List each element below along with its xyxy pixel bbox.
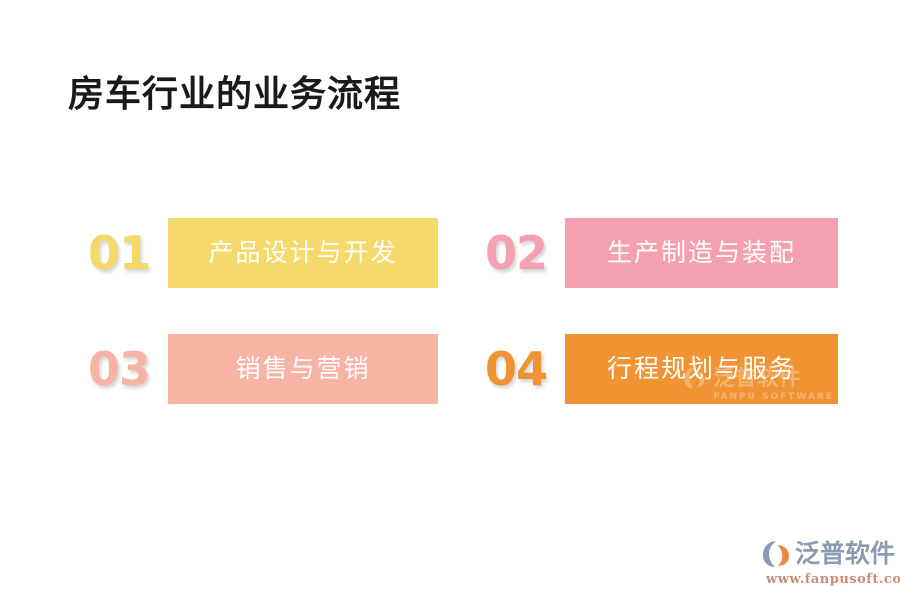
flow-step-number: 04 <box>485 334 565 404</box>
watermark-name-en: FANPU SOFTWARE <box>713 393 834 402</box>
flow-diagram: 01 产品设计与开发 02 生产制造与装配 03 销售与营销 04 行程规划与服… <box>0 0 900 600</box>
flow-step-03[interactable]: 03 销售与营销 <box>88 334 438 404</box>
flow-step-number: 03 <box>88 334 168 404</box>
flow-step-label: 销售与营销 <box>235 357 370 382</box>
brand-url: www.fanpusoft.com <box>766 573 900 586</box>
flow-step-04[interactable]: 04 行程规划与服务 泛普软件 FANPU SOFTWARE <box>485 334 838 404</box>
fanpu-logo-icon <box>762 540 792 568</box>
flow-step-bar[interactable]: 产品设计与开发 <box>168 218 438 288</box>
flow-step-number: 01 <box>88 218 168 288</box>
flow-step-bar[interactable]: 生产制造与装配 <box>565 218 838 288</box>
flow-step-label: 产品设计与开发 <box>208 241 397 266</box>
slide-canvas: 房车行业的业务流程 01 产品设计与开发 02 生产制造与装配 03 销售与营销… <box>0 0 900 600</box>
flow-step-bar[interactable]: 行程规划与服务 泛普软件 FANPU SOFTWARE <box>565 334 838 404</box>
brand-logo-row: 泛普软件 <box>762 538 895 570</box>
flow-step-label: 生产制造与装配 <box>607 241 796 266</box>
flow-step-02[interactable]: 02 生产制造与装配 <box>485 218 838 288</box>
flow-step-01[interactable]: 01 产品设计与开发 <box>88 218 438 288</box>
brand-logo: 泛普软件 www.fanpusoft.com <box>762 538 894 590</box>
brand-name: 泛普软件 <box>795 542 895 567</box>
flow-step-bar[interactable]: 销售与营销 <box>168 334 438 404</box>
flow-step-number: 02 <box>485 218 565 288</box>
flow-step-label: 行程规划与服务 <box>607 357 796 382</box>
